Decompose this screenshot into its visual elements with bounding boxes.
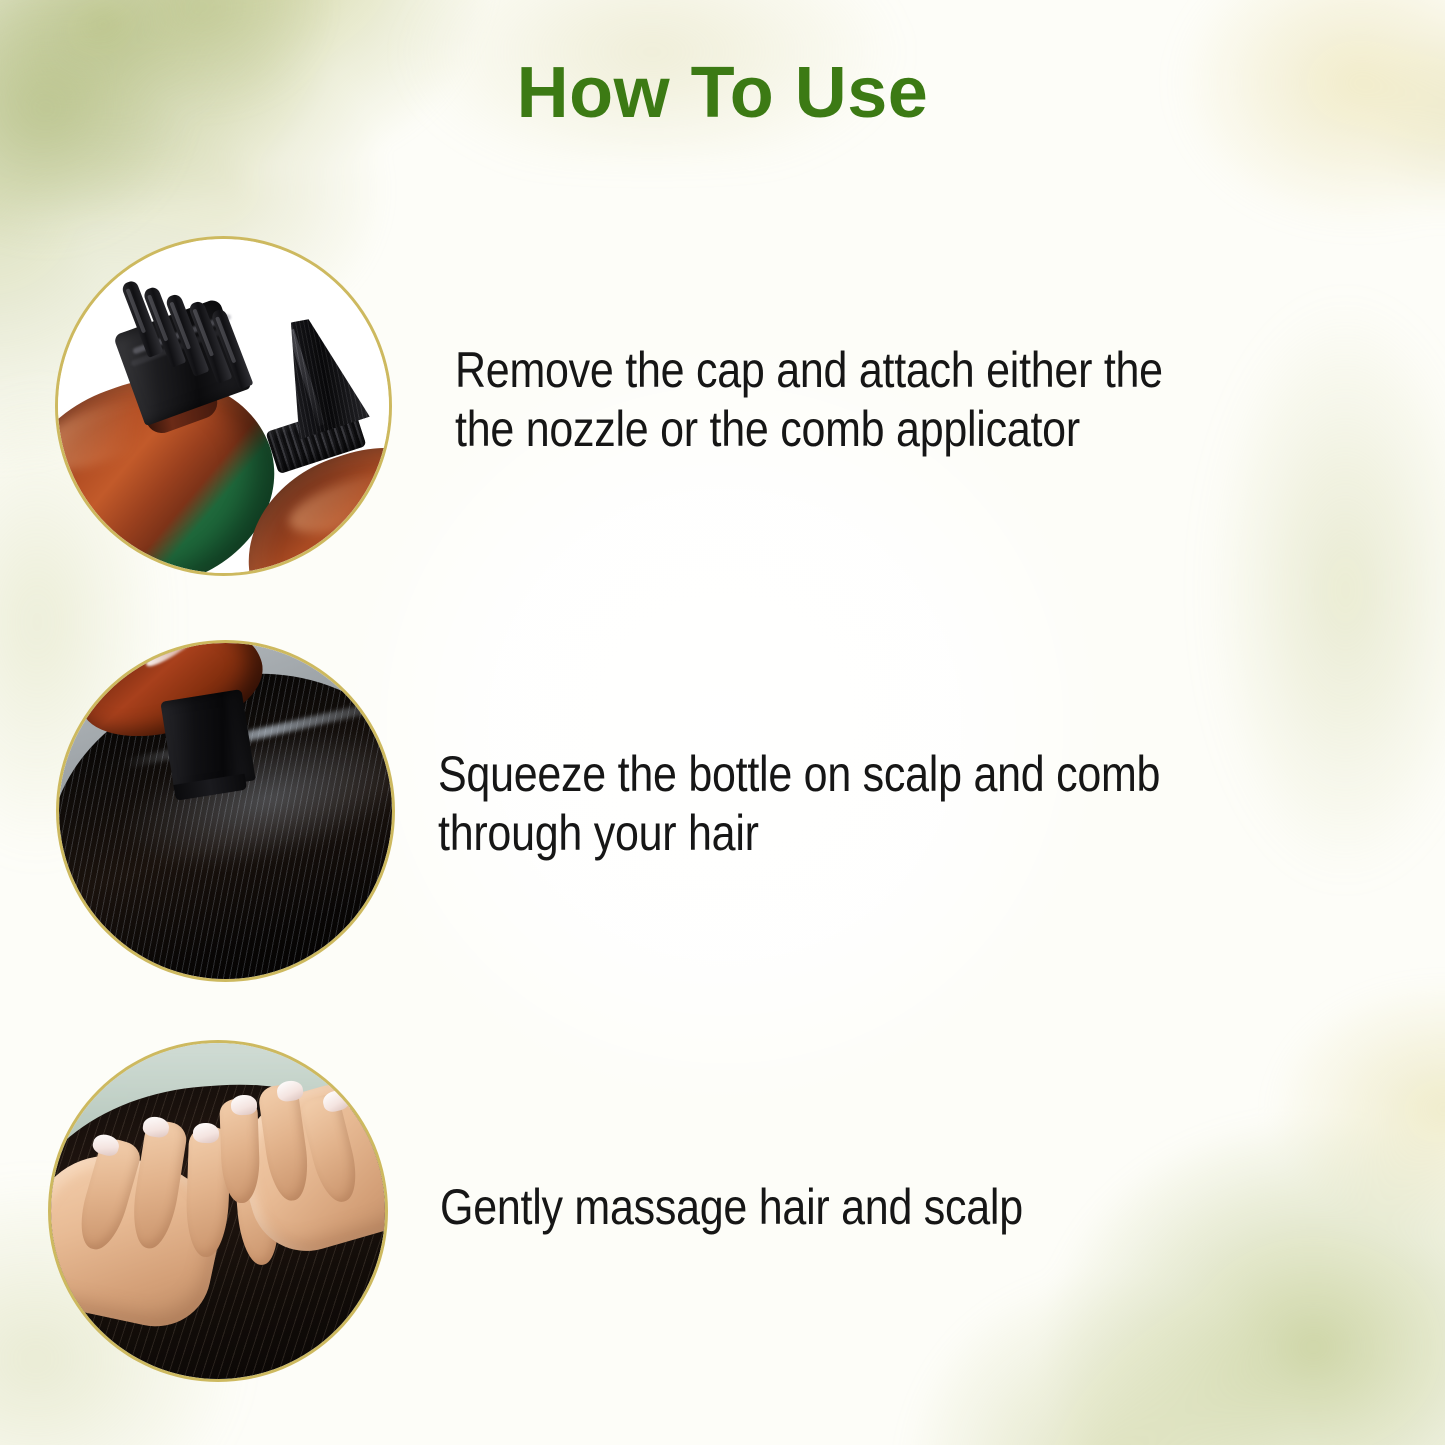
nozzle-cone-texture <box>264 308 370 439</box>
page-title: How To Use <box>0 52 1445 134</box>
step-3-caption: Gently massage hair and scalp <box>440 1178 1300 1237</box>
step-row-3: Gently massage hair and scalp <box>0 1040 1445 1382</box>
oil-bottle-highlight <box>141 643 229 673</box>
step-2-image <box>59 643 392 979</box>
scalp-massage-scene <box>51 1043 385 1379</box>
step-3-image-circle <box>48 1040 388 1382</box>
step-row-2: Squeeze the bottle on scalp and comb thr… <box>0 640 1445 982</box>
step-2-image-circle <box>56 640 395 982</box>
black-comb-cap <box>160 689 255 793</box>
step-1-image <box>58 239 389 573</box>
right-hand-nail-3 <box>231 1095 258 1116</box>
step-2-caption: Squeeze the bottle on scalp and comb thr… <box>438 745 1350 863</box>
combing-through-hair-scene <box>59 643 392 979</box>
step-3-image <box>51 1043 385 1379</box>
bottles-with-applicators-scene <box>58 239 389 573</box>
step-1-image-circle <box>55 236 392 576</box>
step-row-1: Remove the cap and attach either the the… <box>0 236 1445 576</box>
how-to-use-infographic: How To Use <box>0 0 1445 1445</box>
left-hand-nail-3 <box>193 1123 220 1144</box>
step-1-caption: Remove the cap and attach either the the… <box>455 341 1358 459</box>
